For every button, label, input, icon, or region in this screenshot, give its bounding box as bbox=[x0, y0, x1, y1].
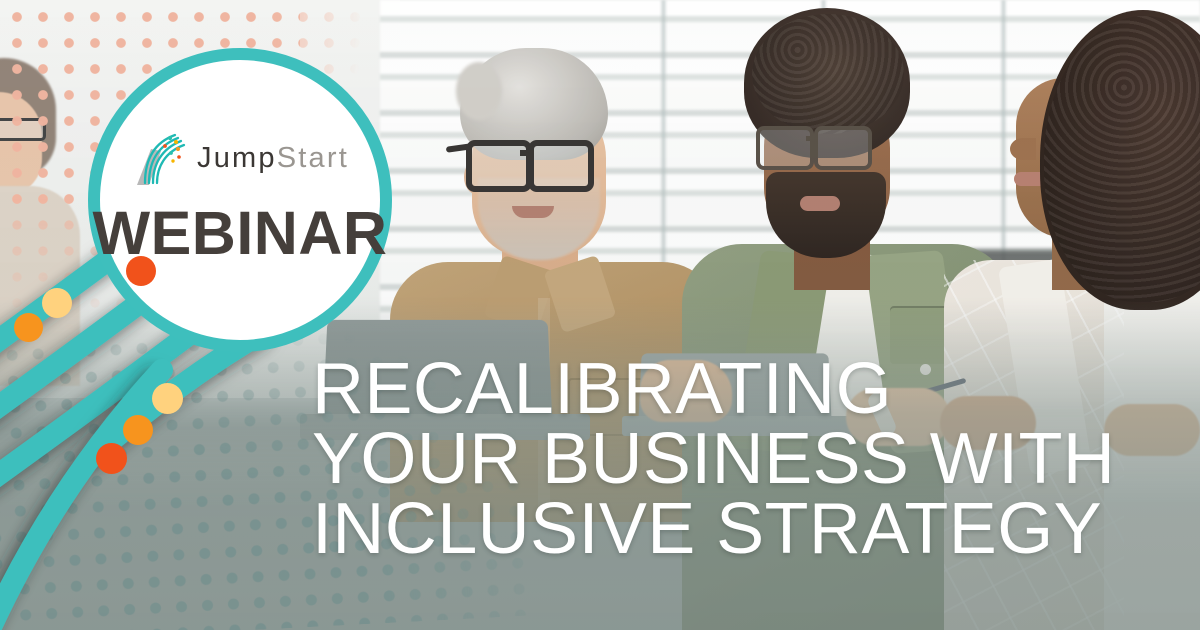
jumpstart-logo: JumpStart bbox=[131, 131, 349, 187]
orange-red-dot-top bbox=[126, 256, 156, 286]
yellow-dot-upper bbox=[42, 288, 72, 318]
logo-word-jump: Jump bbox=[197, 142, 277, 174]
jumpstart-swoosh-mark-icon bbox=[131, 131, 189, 187]
logo-word-start: Start bbox=[277, 142, 349, 174]
yellow-dot-lower bbox=[152, 383, 183, 414]
webinar-badge: JumpStart WEBINAR bbox=[88, 48, 392, 352]
headline-line-2: YOUR BUSINESS WITH bbox=[312, 425, 1142, 495]
badge-label-webinar: WEBINAR bbox=[93, 203, 388, 264]
webinar-promo-banner: JumpStart WEBINAR RECALIBRATING YOUR BUS… bbox=[0, 0, 1200, 630]
headline-line-1: RECALIBRATING bbox=[312, 355, 1142, 425]
headline: RECALIBRATING YOUR BUSINESS WITH INCLUSI… bbox=[312, 355, 1142, 564]
orange-dot-upper bbox=[14, 313, 43, 342]
jumpstart-wordmark: JumpStart bbox=[197, 144, 349, 173]
orange-dot-lower bbox=[123, 415, 153, 445]
headline-line-3: INCLUSIVE STRATEGY bbox=[312, 495, 1142, 565]
orange-red-dot-low bbox=[96, 443, 127, 474]
